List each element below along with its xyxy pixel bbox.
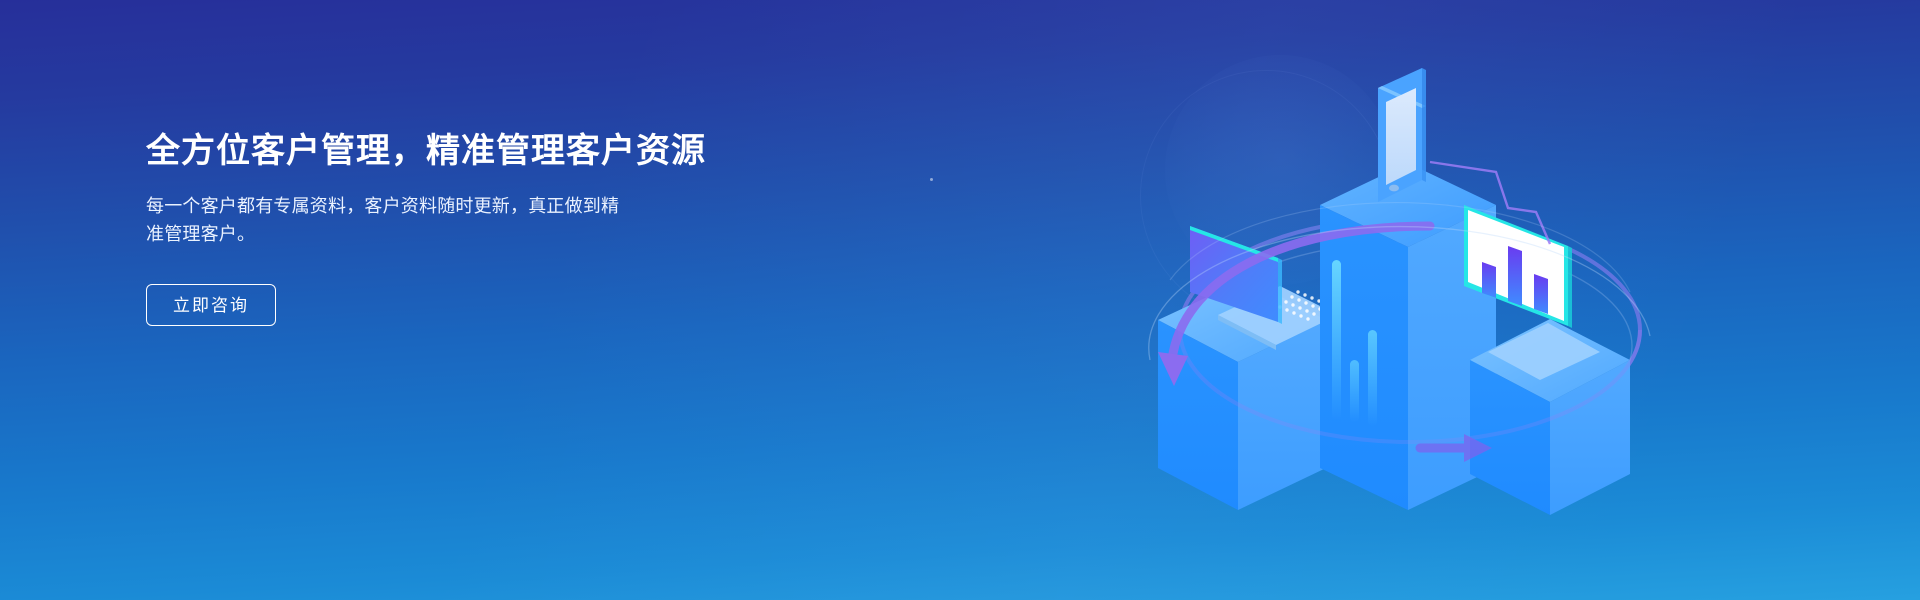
hero-illustration bbox=[1130, 30, 1690, 570]
hero-copy: 全方位客户管理，精准管理客户资源 每一个客户都有专属资料，客户资料随时更新，真正… bbox=[146, 128, 786, 326]
consult-now-button[interactable]: 立即咨询 bbox=[146, 284, 276, 326]
sparkle-dot bbox=[930, 178, 933, 181]
hero-banner: 全方位客户管理，精准管理客户资源 每一个客户都有专属资料，客户资料随时更新，真正… bbox=[0, 0, 1920, 600]
page-title: 全方位客户管理，精准管理客户资源 bbox=[146, 128, 786, 174]
hero-subtitle: 每一个客户都有专属资料，客户资料随时更新，真正做到精准管理客户。 bbox=[146, 192, 636, 248]
